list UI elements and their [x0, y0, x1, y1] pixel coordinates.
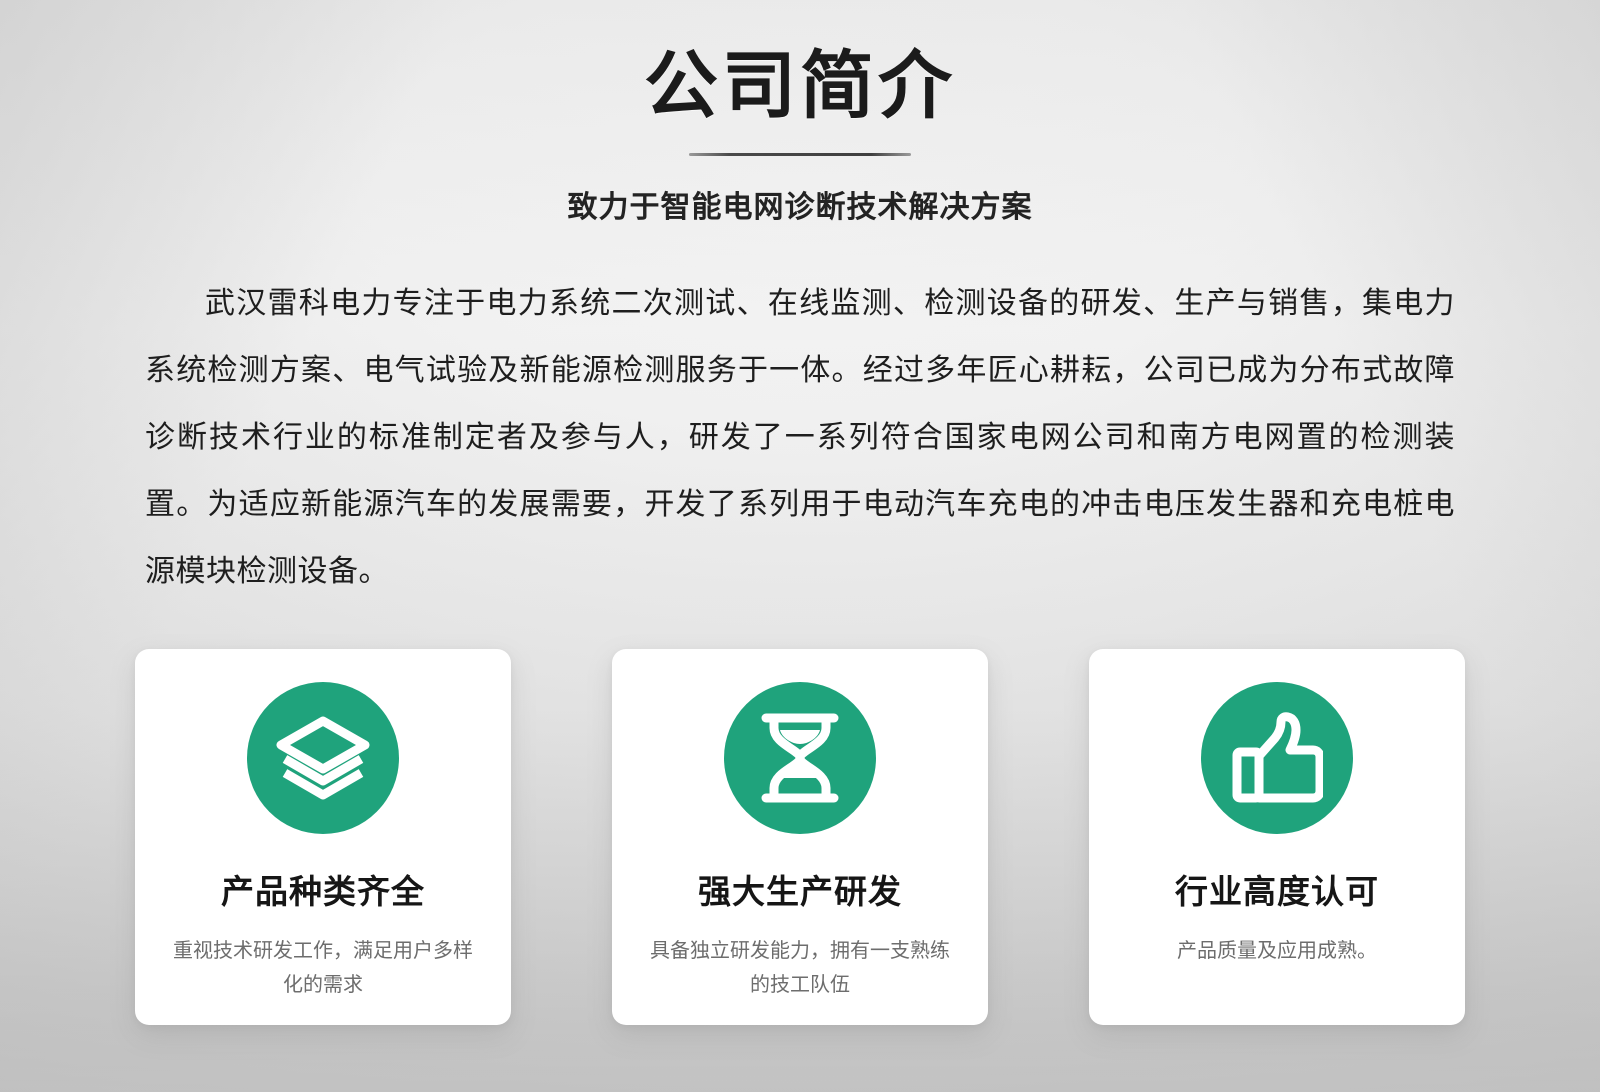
hourglass-icon — [724, 682, 876, 834]
feature-card-title: 强大生产研发 — [698, 872, 902, 912]
title-divider — [689, 153, 911, 156]
page-subtitle: 致力于智能电网诊断技术解决方案 — [0, 182, 1600, 226]
feature-card-description: 产品质量及应用成熟。 — [1127, 934, 1427, 968]
company-intro-paragraph: 武汉雷科电力专注于电力系统二次测试、在线监测、检测设备的研发、生产与销售，集电力… — [145, 270, 1455, 605]
feature-card[interactable]: 强大生产研发 具备独立研发能力，拥有一支熟练的技工队伍 — [612, 649, 988, 1025]
feature-card-list: 产品种类齐全 重视技术研发工作，满足用户多样化的需求 强大生产研发 具备独立 — [135, 649, 1465, 1025]
thumbs-up-icon — [1201, 682, 1353, 834]
feature-card[interactable]: 行业高度认可 产品质量及应用成熟。 — [1089, 649, 1465, 1025]
feature-card-title: 行业高度认可 — [1175, 872, 1379, 912]
feature-card-description: 具备独立研发能力，拥有一支熟练的技工队伍 — [650, 934, 950, 1002]
feature-card-description: 重视技术研发工作，满足用户多样化的需求 — [173, 934, 473, 1002]
page-title: 公司简介 — [0, 46, 1600, 126]
layers-icon — [247, 682, 399, 834]
feature-card-title: 产品种类齐全 — [221, 872, 425, 912]
page-background: 公司简介 致力于智能电网诊断技术解决方案 武汉雷科电力专注于电力系统二次测试、在… — [0, 0, 1600, 1092]
section-header: 公司简介 致力于智能电网诊断技术解决方案 — [0, 0, 1600, 226]
feature-card[interactable]: 产品种类齐全 重视技术研发工作，满足用户多样化的需求 — [135, 649, 511, 1025]
